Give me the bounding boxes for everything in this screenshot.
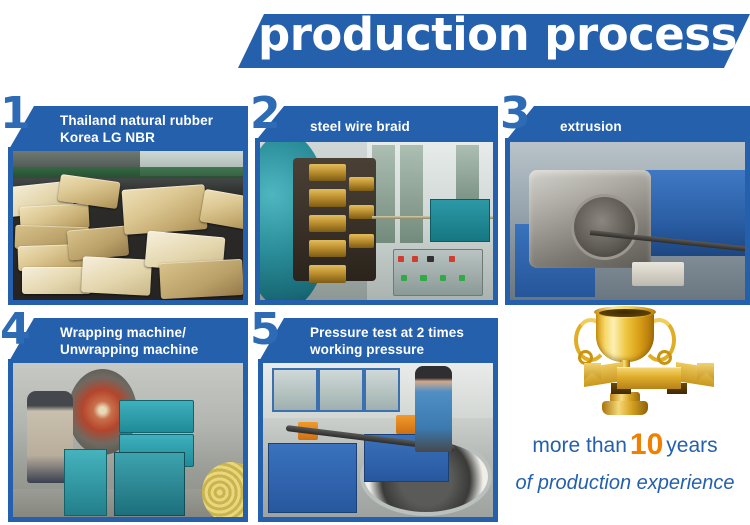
step-label-1-line2: Korea LG NBR [60,129,242,146]
experience-tagline-line1: more than10years [500,432,750,459]
step-number-2: 2 [250,92,286,136]
step-label-5-line2: working pressure [310,341,492,358]
step-label-2-line1: steel wire braid [310,118,492,135]
step-number-3: 3 [500,92,536,136]
step-label-4: Wrapping machine/ Unwrapping machine [8,318,248,363]
step-photo-3 [505,138,750,305]
trophy-icon [572,306,678,426]
tagline-prefix: more than [532,434,627,457]
step-label-3-line1: extrusion [560,118,744,135]
step-panel-5: 5 Pressure test at 2 times working press… [250,308,498,522]
step-label-5: Pressure test at 2 times working pressur… [258,318,498,363]
step-photo-5 [258,359,498,522]
step-label-3: extrusion [508,106,750,138]
step-number-4: 4 [0,308,36,352]
step-number-1: 1 [0,92,36,136]
production-process-infographic: production process 1 Thailand natural ru… [0,0,750,525]
step-label-1-line1: Thailand natural rubber [60,112,242,129]
step-photo-2 [255,138,498,305]
step-label-2: steel wire braid [258,106,498,138]
step-panel-4: 4 Wrapping machine/ Unwrapping machine [0,308,248,522]
step-panel-3: 3 extrusion [500,92,750,305]
step-number-5: 5 [250,308,286,352]
step-label-4-line2: Unwrapping machine [60,341,242,358]
step-photo-4 [8,359,248,522]
tagline-suffix: years [666,434,717,457]
experience-tagline-line2: of production experience [500,470,750,496]
step-label-4-line1: Wrapping machine/ [60,324,242,341]
step-label-5-line1: Pressure test at 2 times [310,324,492,341]
experience-badge: more than10years of production experienc… [500,302,750,525]
page-title: production process [258,8,750,62]
tagline-years-number: 10 [627,428,666,461]
step-photo-1 [8,147,248,305]
ribbon-icon [584,363,714,397]
step-panel-2: 2 steel wire braid [250,92,498,305]
step-label-1: Thailand natural rubber Korea LG NBR [8,106,248,151]
step-panel-1: 1 Thailand natural rubber Korea LG NBR [0,92,248,305]
